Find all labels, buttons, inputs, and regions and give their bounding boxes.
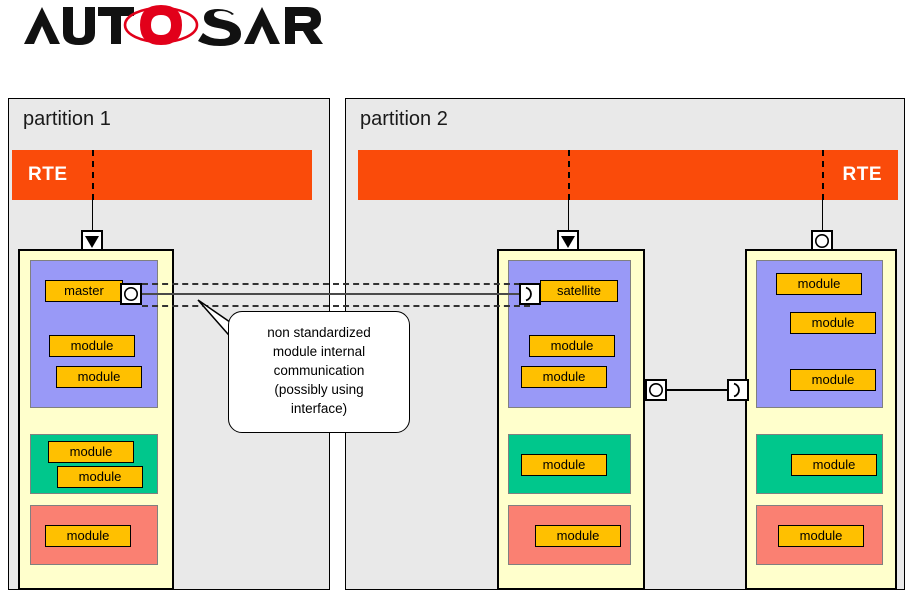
- module-group-salmon-stack-2: module: [508, 505, 631, 565]
- rte-1-dashed-connector: [92, 150, 94, 200]
- callout-line-2: module internal: [273, 344, 365, 359]
- module-chip[interactable]: module: [535, 525, 621, 547]
- module-group-salmon-stack-1: module: [30, 505, 158, 565]
- module-chip[interactable]: module: [57, 466, 143, 488]
- module-group-teal-stack-2: module: [508, 434, 631, 494]
- rte-2-dashed-connector-left: [568, 150, 570, 200]
- triangle-down-icon: [83, 232, 101, 250]
- circle-port-icon: [647, 381, 665, 399]
- module-chip[interactable]: module: [791, 454, 877, 476]
- circle-port-icon: [122, 285, 140, 303]
- crescent-port-stack-3-side[interactable]: [727, 379, 749, 401]
- callout-line-1: non standardized: [267, 325, 371, 340]
- inter-stack-connector-line: [666, 389, 728, 391]
- callout-text: non standardized module internal communi…: [239, 323, 399, 418]
- callout-line-5: interface): [291, 401, 347, 416]
- module-chip[interactable]: module: [790, 369, 876, 391]
- autosar-logo-svg: [22, 2, 332, 50]
- rte-1-drop-line: [92, 200, 93, 232]
- rte-bar-partition-2: RTE: [358, 150, 898, 200]
- module-chip[interactable]: module: [48, 441, 134, 463]
- partition-1-label: partition 1: [23, 108, 111, 131]
- bsw-stack-partition-2-right: module module module module module: [745, 249, 897, 590]
- module-chip[interactable]: module: [776, 273, 862, 295]
- logo-text-group: [24, 5, 323, 46]
- module-group-purple-stack-3: module module module: [756, 260, 883, 408]
- rte-label-partition-1: RTE: [28, 164, 68, 186]
- crescent-port-satellite[interactable]: [519, 283, 541, 305]
- bsw-stack-partition-1: master module module module module modul…: [18, 249, 174, 590]
- module-internal-comm-line-center: [142, 293, 520, 295]
- module-chip[interactable]: module: [529, 335, 615, 357]
- partition-2-label: partition 2: [360, 108, 448, 131]
- module-chip[interactable]: module: [790, 312, 876, 334]
- module-chip[interactable]: module: [521, 366, 607, 388]
- module-chip[interactable]: module: [521, 454, 607, 476]
- autosar-logo: [22, 2, 332, 50]
- module-chip[interactable]: module: [56, 366, 142, 388]
- crescent-port-icon: [521, 285, 539, 303]
- module-chip[interactable]: module: [45, 525, 131, 547]
- module-chip[interactable]: module: [778, 525, 864, 547]
- triangle-down-icon: [559, 232, 577, 250]
- callout-non-standardized-communication: non standardized module internal communi…: [228, 311, 410, 433]
- rte-2-drop-line-left: [568, 200, 569, 232]
- callout-line-4: (possibly using: [274, 382, 363, 397]
- rte-2-dashed-connector-right: [822, 150, 824, 200]
- rte-2-drop-line-right: [822, 200, 823, 232]
- autosar-partition-diagram: { "logo": { "text": "AUTOSAR", "part_1":…: [0, 0, 913, 599]
- module-group-salmon-stack-3: module: [756, 505, 883, 565]
- circle-port-icon: [813, 232, 831, 250]
- module-group-teal-stack-1: module module: [30, 434, 158, 494]
- crescent-port-icon: [729, 381, 747, 399]
- satellite-module[interactable]: satellite: [540, 280, 618, 302]
- circle-port-master[interactable]: [120, 283, 142, 305]
- rte-label-partition-2: RTE: [843, 164, 883, 186]
- module-group-teal-stack-3: module: [756, 434, 883, 494]
- master-module[interactable]: master: [45, 280, 123, 302]
- rte-bar-partition-1: RTE: [12, 150, 312, 200]
- module-chip[interactable]: module: [49, 335, 135, 357]
- callout-line-3: communication: [274, 363, 365, 378]
- circle-port-stack-2-side[interactable]: [645, 379, 667, 401]
- module-internal-comm-line-top: [142, 283, 530, 285]
